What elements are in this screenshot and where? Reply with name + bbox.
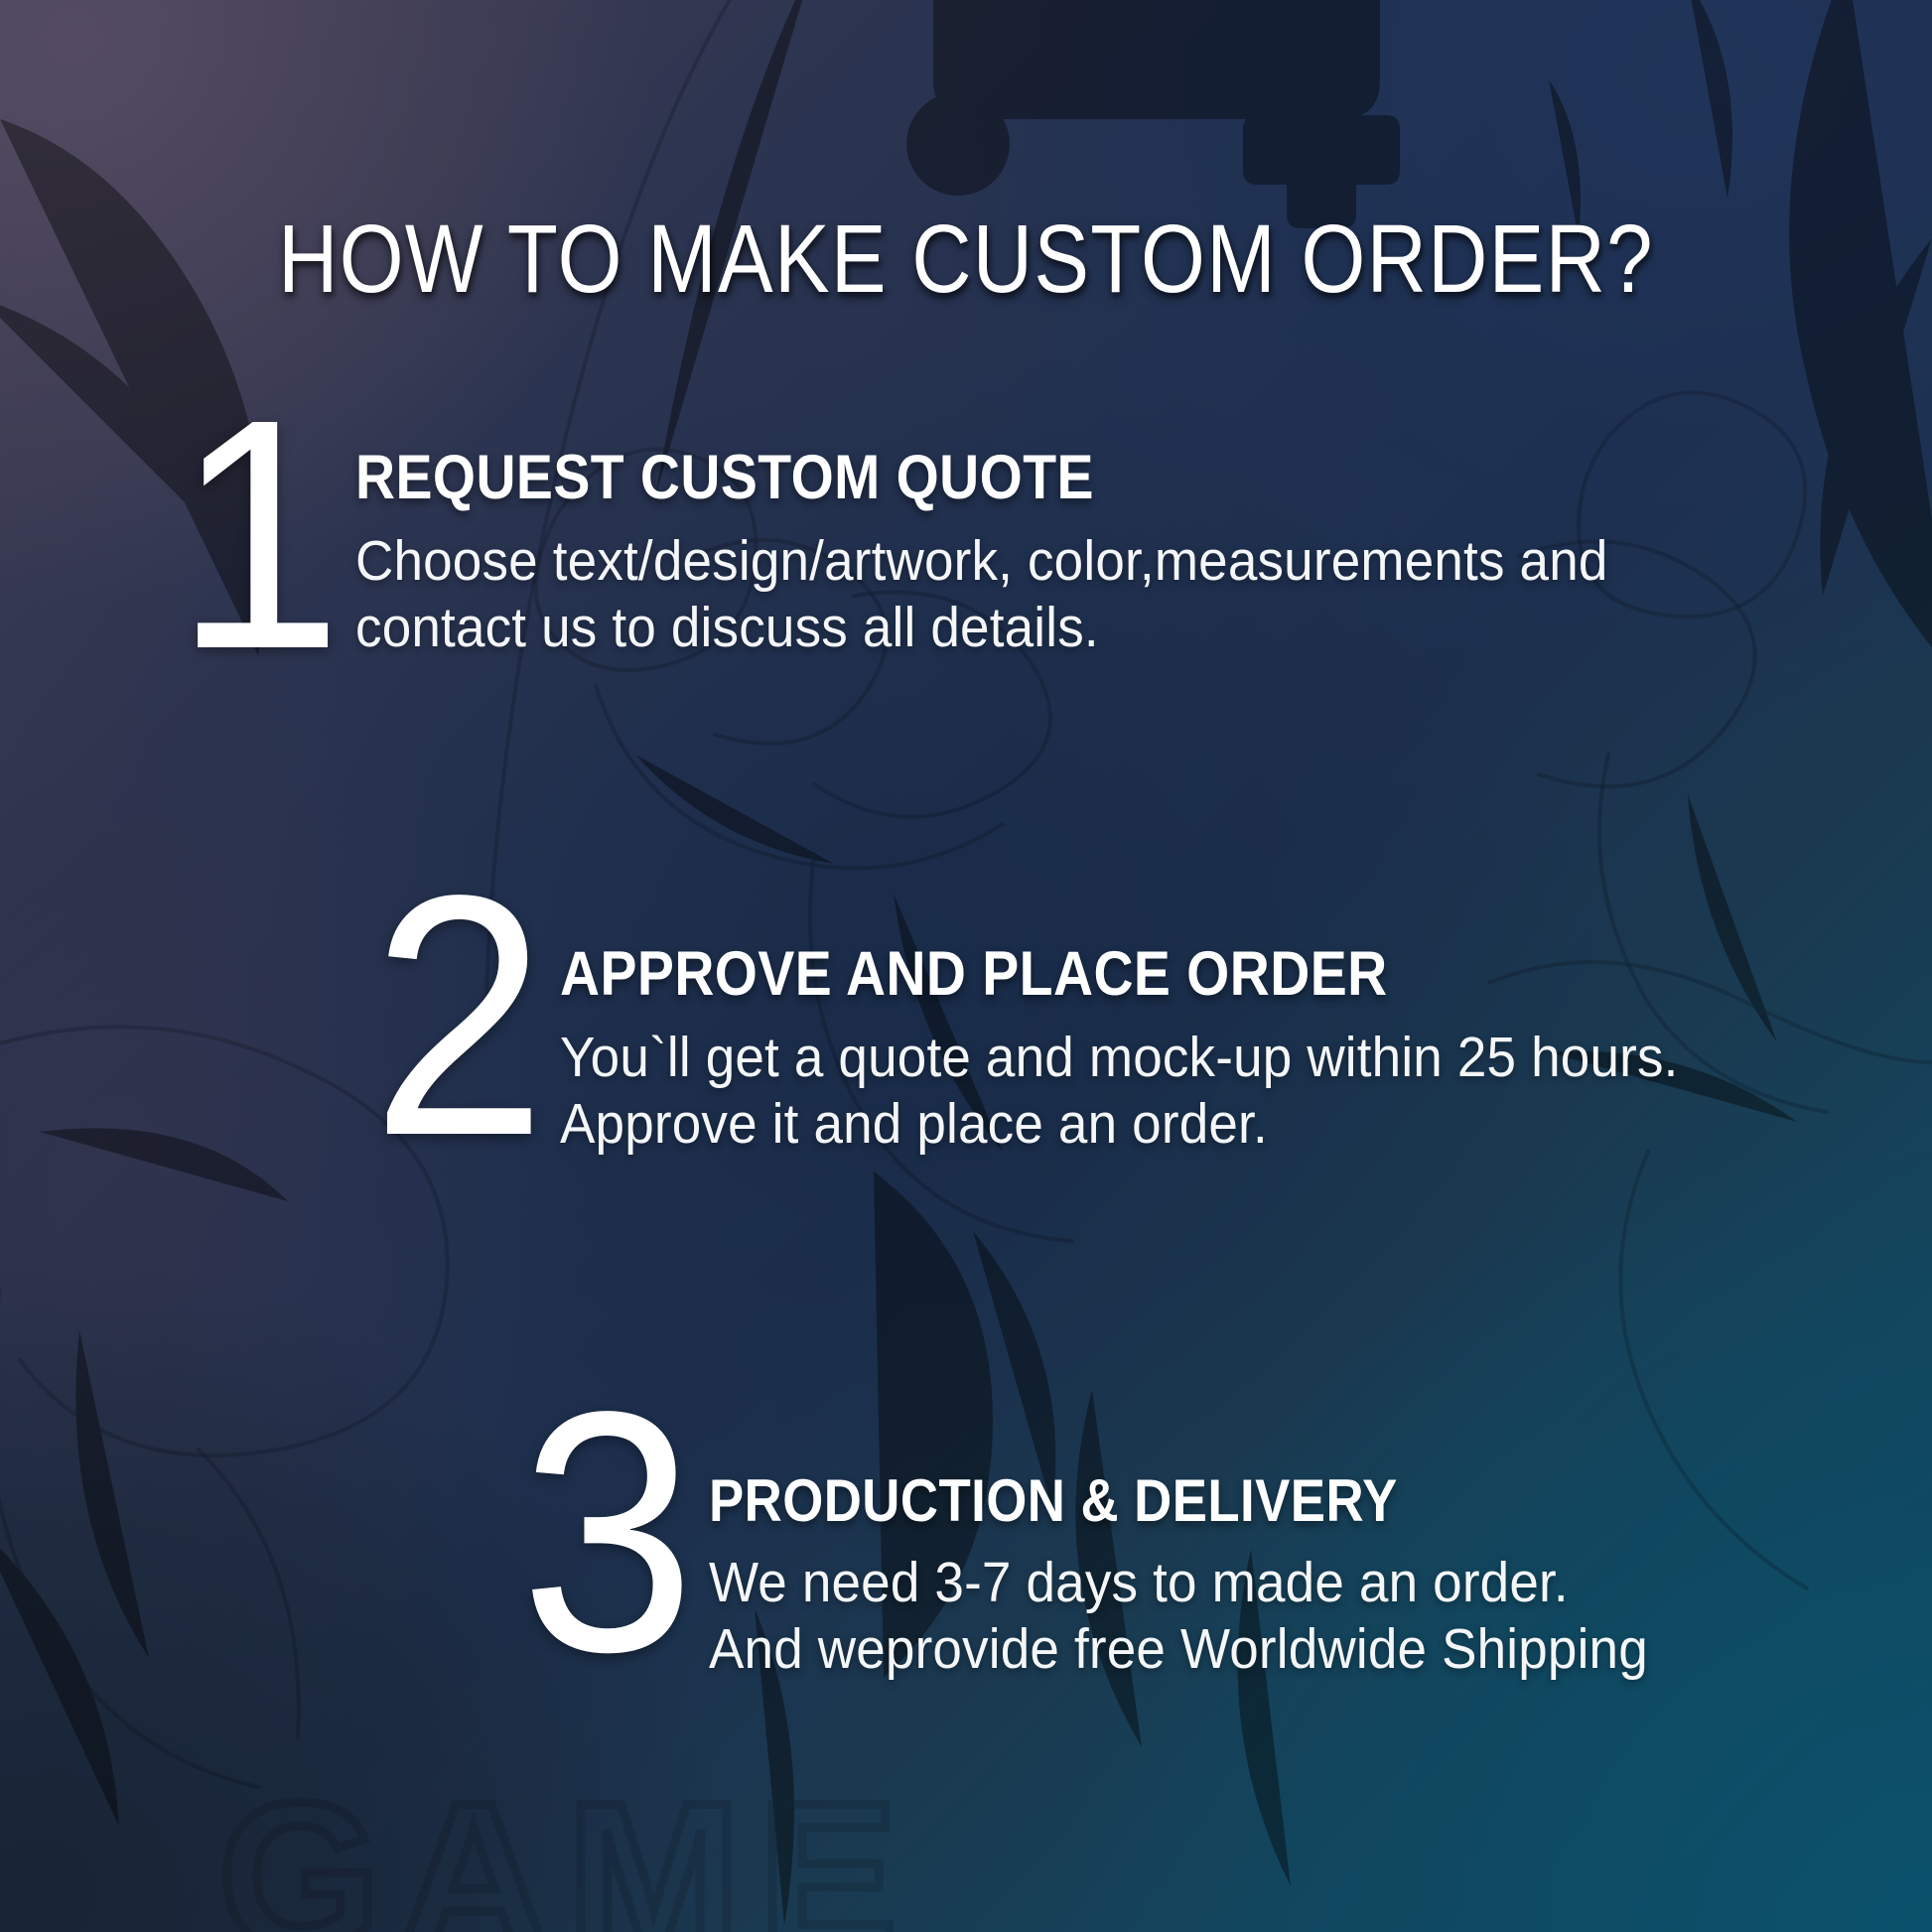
custom-order-infographic: GAME HOW TO MAKE CUSTOM ORDER? 1 REQUEST… <box>0 0 1932 1932</box>
step-body-1: REQUEST CUSTOM QUOTE Choose text/design/… <box>355 429 1703 660</box>
step-heading-1: REQUEST CUSTOM QUOTE <box>355 447 1541 509</box>
step-heading-3: PRODUCTION & DELIVERY <box>709 1471 1597 1531</box>
step-description-3: We need 3-7 days to made an order. And w… <box>709 1550 1648 1682</box>
poster-content: HOW TO MAKE CUSTOM ORDER? 1 REQUEST CUST… <box>0 0 1932 1932</box>
step-item-2: 2 APPROVE AND PLACE ORDER You`ll get a q… <box>371 905 1762 1157</box>
step-description-1-line-1: Choose text/design/artwork, color,measur… <box>355 528 1608 595</box>
step-description-2-line-1: You`ll get a quote and mock-up within 25… <box>560 1025 1679 1091</box>
step-description-1: Choose text/design/artwork, color,measur… <box>355 528 1608 660</box>
step-description-3-line-1: We need 3-7 days to made an order. <box>709 1550 1648 1616</box>
step-description-3-line-2: And weprovide free Worldwide Shipping <box>709 1616 1648 1683</box>
step-description-1-line-2: contact us to discuss all details. <box>355 595 1608 661</box>
step-heading-2: APPROVE AND PLACE ORDER <box>560 943 1618 1006</box>
step-body-2: APPROVE AND PLACE ORDER You`ll get a quo… <box>560 905 1762 1157</box>
step-number-2: 2 <box>371 880 541 1154</box>
step-number-1: 1 <box>175 403 337 665</box>
step-description-2: You`ll get a quote and mock-up within 25… <box>560 1025 1679 1157</box>
step-item-3: 3 PRODUCTION & DELIVERY We need 3-7 days… <box>520 1422 1719 1682</box>
step-body-3: PRODUCTION & DELIVERY We need 3-7 days t… <box>709 1422 1719 1682</box>
step-number-3: 3 <box>520 1396 690 1670</box>
step-item-1: 1 REQUEST CUSTOM QUOTE Choose text/desig… <box>175 429 1702 665</box>
page-title: HOW TO MAKE CUSTOM ORDER? <box>135 210 1797 307</box>
step-description-2-line-2: Approve it and place an order. <box>560 1091 1679 1158</box>
